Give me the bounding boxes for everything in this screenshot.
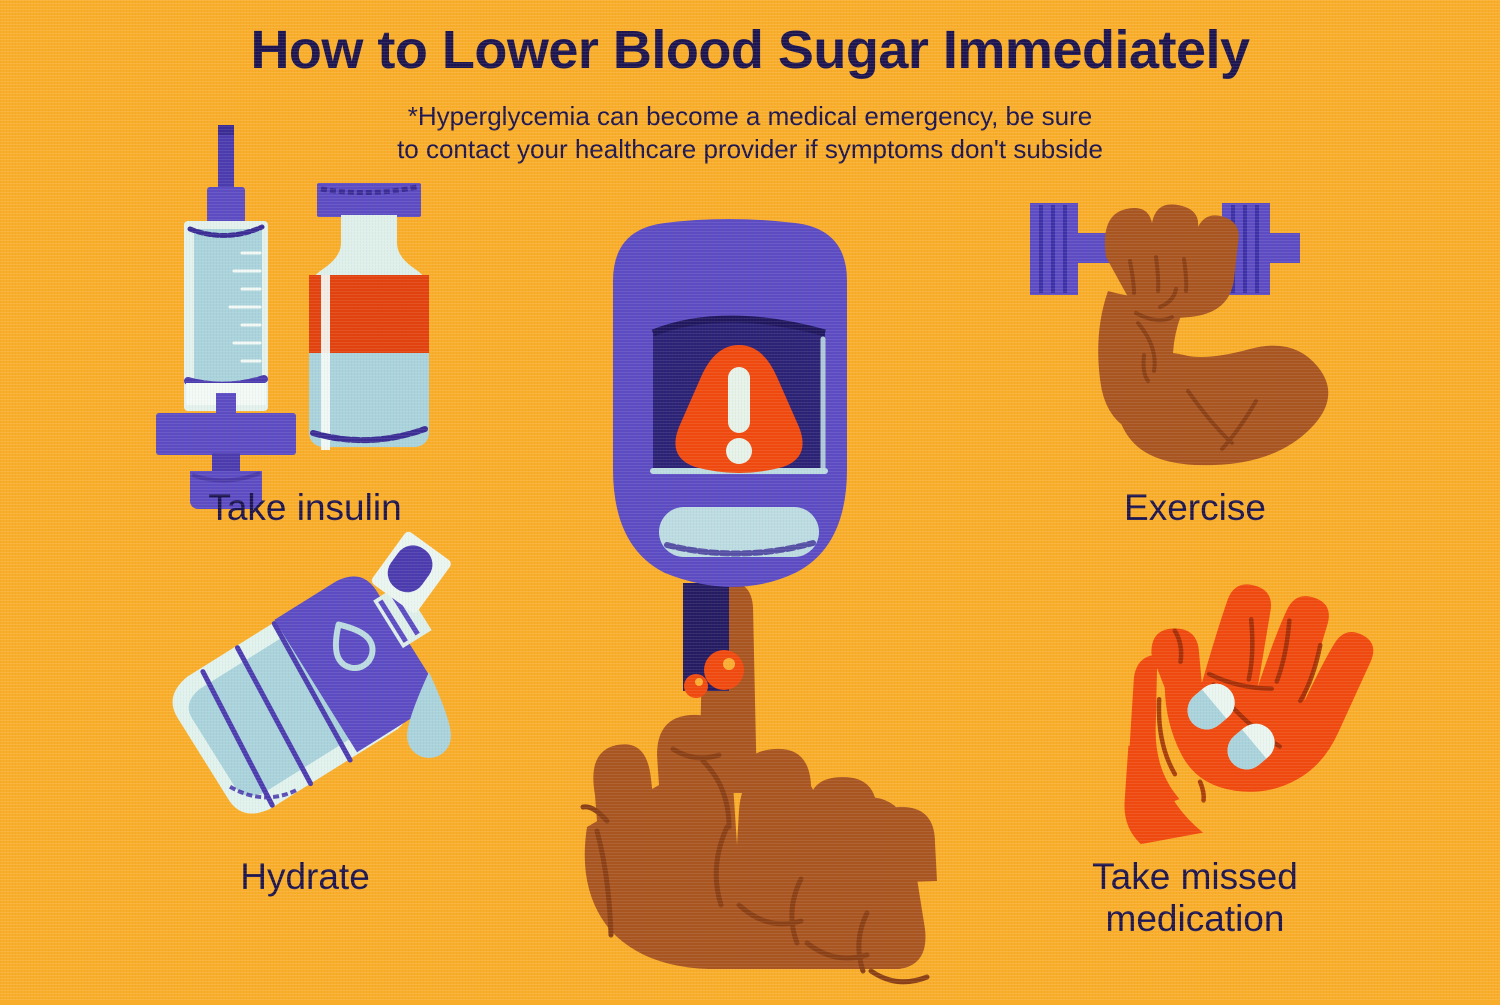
caption-take-insulin: Take insulin	[95, 487, 515, 529]
water-bottle-icon	[130, 560, 490, 850]
caption-line-1: Take missed	[985, 856, 1405, 898]
caption-line-2: medication	[985, 898, 1405, 940]
dumbbell-plate-left	[1030, 203, 1078, 295]
syringe-and-vial-icon	[150, 125, 490, 485]
caption-hydrate: Hydrate	[95, 856, 515, 898]
caption-take-missed-medication: Take missed medication	[985, 856, 1405, 940]
glucose-meter-icon	[575, 215, 925, 1005]
hand-with-pills-icon	[1085, 570, 1385, 860]
meter-body	[613, 219, 847, 587]
pointing-finger-icon	[583, 583, 937, 982]
flexed-arm-dumbbell-icon	[1010, 195, 1360, 495]
insulin-vial-icon	[309, 183, 429, 450]
meter-button	[659, 507, 819, 557]
caption-exercise: Exercise	[985, 487, 1405, 529]
syringe-icon	[156, 125, 296, 509]
page-title: How to Lower Blood Sugar Immediately	[0, 22, 1500, 78]
